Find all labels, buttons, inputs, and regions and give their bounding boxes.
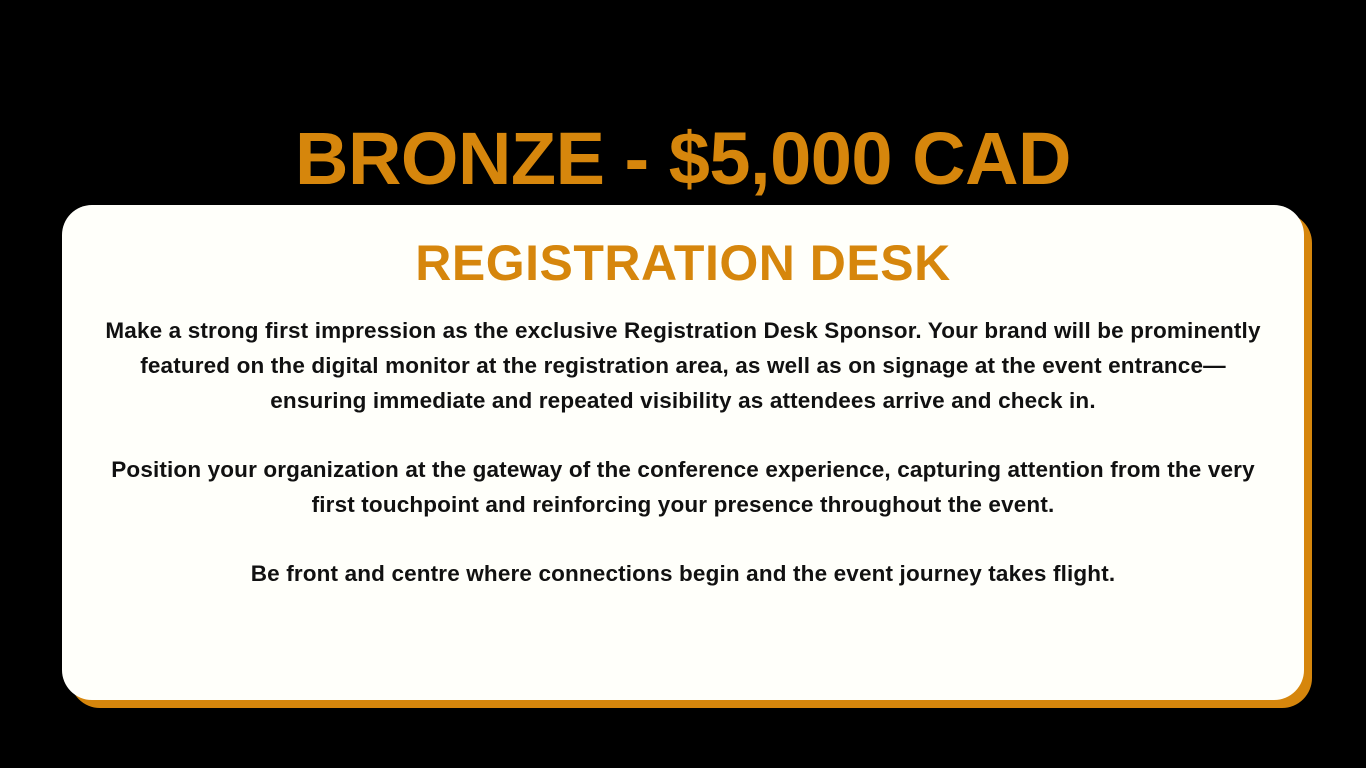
sponsorship-slide: BRONZE - $5,000 CAD REGISTRATION DESK Ma…: [0, 0, 1366, 768]
paragraph-spacer: [92, 522, 1274, 556]
page-title: BRONZE - $5,000 CAD: [0, 122, 1366, 196]
card-surface: REGISTRATION DESK Make a strong first im…: [62, 205, 1304, 700]
card-paragraph-2: Position your organization at the gatewa…: [92, 452, 1274, 522]
sponsorship-card: REGISTRATION DESK Make a strong first im…: [62, 205, 1304, 700]
card-paragraph-3: Be front and centre where connections be…: [92, 556, 1274, 591]
card-paragraph-1: Make a strong first impression as the ex…: [92, 313, 1274, 418]
card-heading: REGISTRATION DESK: [92, 235, 1274, 291]
paragraph-spacer: [92, 418, 1274, 452]
card-body: Make a strong first impression as the ex…: [92, 313, 1274, 592]
